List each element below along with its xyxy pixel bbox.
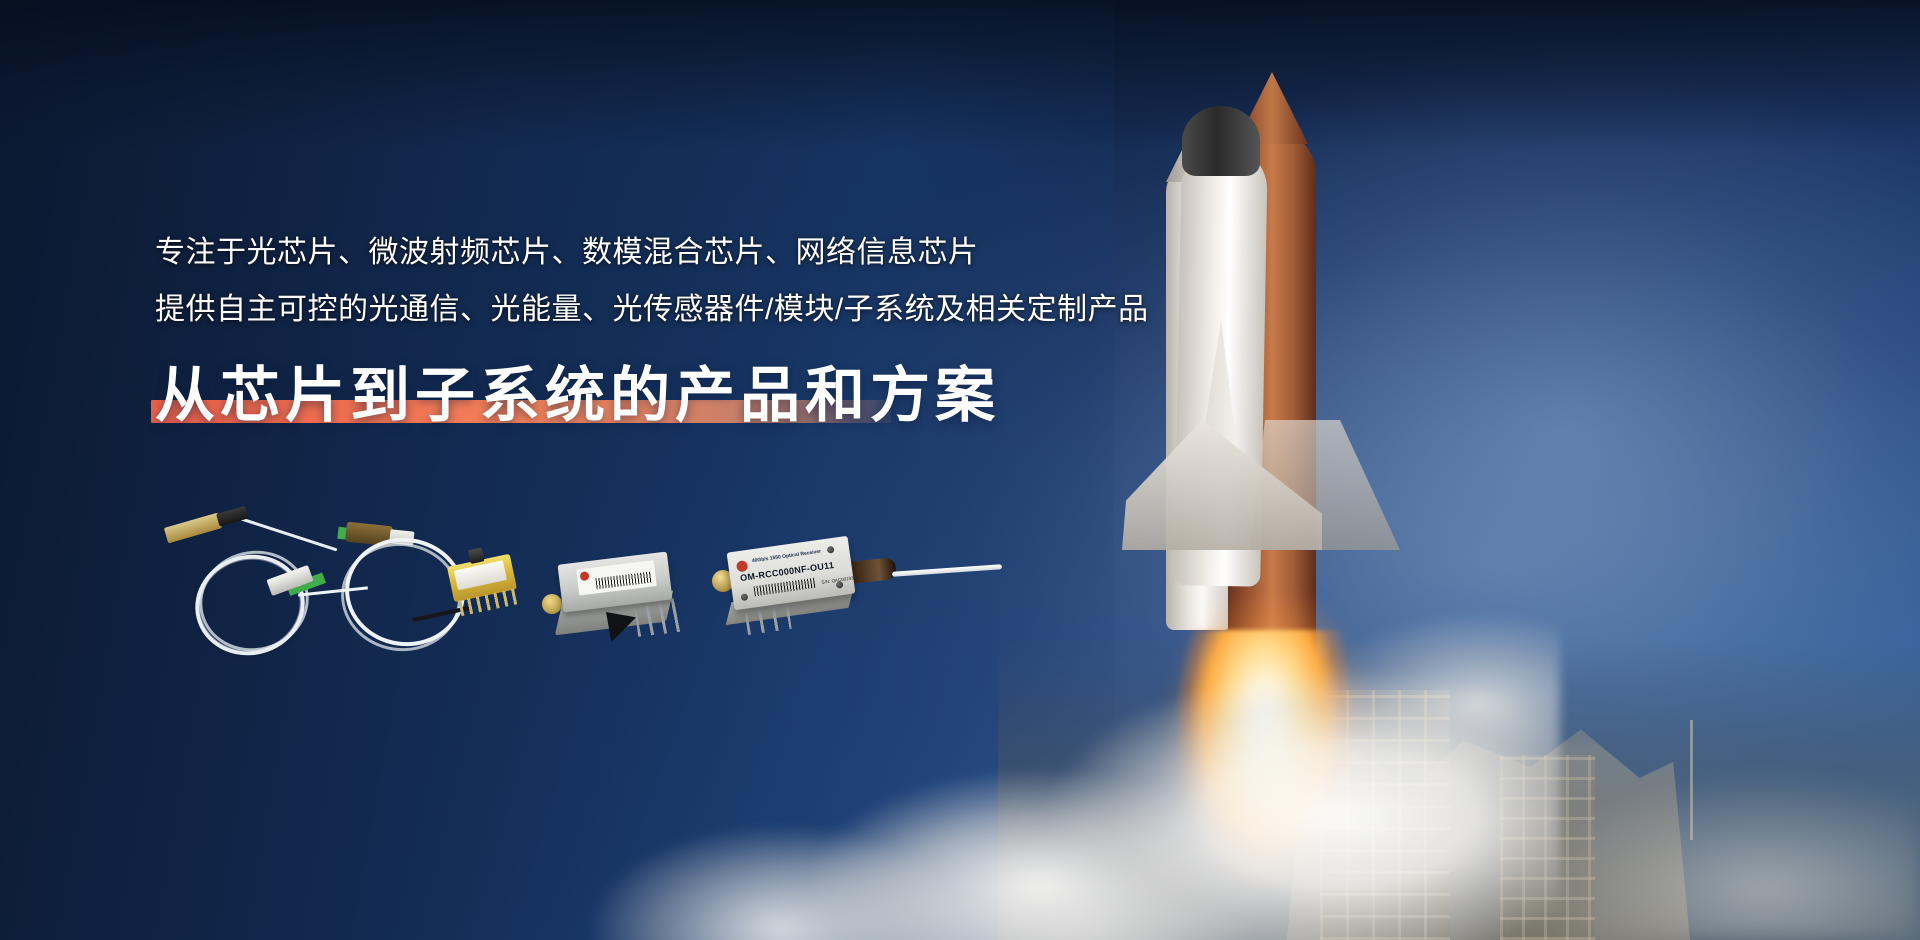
orbiter-nose-cone <box>1182 106 1260 176</box>
banner-subline-1: 专注于光芯片、微波射频芯片、数模混合芯片、网络信息芯片 <box>155 230 1255 275</box>
fiber-coil-inner <box>189 539 320 663</box>
package-lid <box>454 560 507 590</box>
fiber-pigtail <box>892 564 1002 577</box>
product-showcase: 40Gb/s 1550 Optical Receiver OM-RCC000NF… <box>150 520 1100 680</box>
smoke-right <box>1400 680 1920 940</box>
banner-headline-wrap: 从芯片到子系统的产品和方案 <box>155 362 1000 429</box>
banner-headline: 从芯片到子系统的产品和方案 <box>155 362 1000 429</box>
sky-top-gradient <box>0 0 1920 150</box>
sma-connector-icon <box>542 594 562 614</box>
package-pins <box>458 588 518 616</box>
screw-icon <box>740 593 748 601</box>
barcode-icon <box>753 578 816 597</box>
banner-subline-2: 提供自主可控的光通信、光能量、光传感器件/模块/子系统及相关定制产品 <box>155 287 1255 332</box>
butterfly-package-icon <box>447 554 517 603</box>
module-label <box>576 560 657 595</box>
vendor-logo-icon <box>736 560 748 572</box>
module-pins <box>744 603 791 635</box>
module-pins <box>634 597 686 637</box>
hero-banner: 专注于光芯片、微波射频芯片、数模混合芯片、网络信息芯片 提供自主可控的光通信、光… <box>0 0 1920 940</box>
receiver-label-line-1: 40Gb/s 1550 Optical Receiver <box>752 549 822 565</box>
screw-icon <box>827 546 835 554</box>
thermistor-post <box>468 547 485 564</box>
fiber-coil-inner <box>334 535 468 659</box>
banner-copy: 专注于光芯片、微波射频芯片、数模混合芯片、网络信息芯片 提供自主可控的光通信、光… <box>155 230 1255 429</box>
